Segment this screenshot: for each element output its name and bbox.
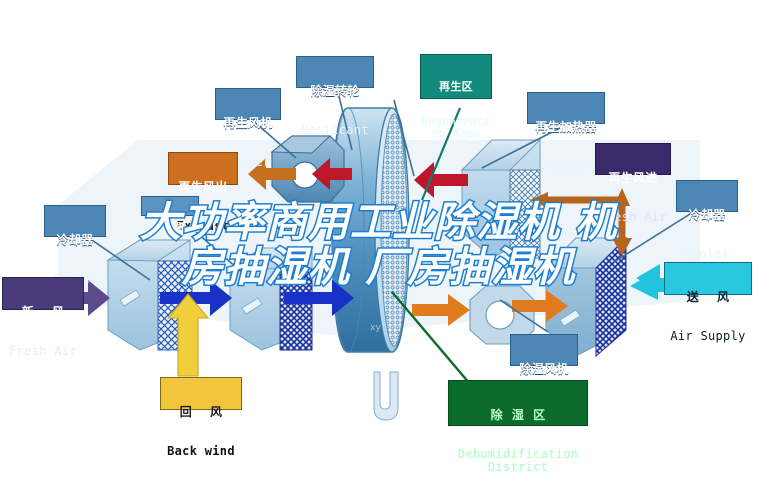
label-regen-exhaust-cn: 再生风出 bbox=[169, 181, 237, 194]
label-cooler-right-en: Cooler bbox=[677, 248, 737, 261]
label-regen-exhaust: 再生风出 Exhaust bbox=[168, 152, 238, 185]
label-dehumid-area-en: Dehumidification District bbox=[449, 448, 587, 474]
label-regen-heater-en: heater bbox=[528, 160, 604, 173]
label-regen-fresh-air: 再生风进 Fresh Air bbox=[595, 143, 671, 175]
label-cooler-left-1-cn: 冷却器 bbox=[45, 234, 105, 247]
label-regen-heater-cn: 再生加热器 bbox=[528, 121, 604, 134]
label-back-wind: 回 风 Back wind bbox=[160, 377, 242, 410]
label-fresh-air-in-en: Fresh Air bbox=[3, 345, 83, 358]
label-dehumid-blower: 除湿风机 Blower bbox=[510, 334, 578, 366]
label-regen-fresh-air-cn: 再生风进 bbox=[596, 172, 670, 185]
label-cooler-left-1: 冷却器 Cooler bbox=[44, 205, 106, 237]
label-air-supply-cn: 送 风 bbox=[665, 291, 751, 304]
label-regen-blower: 再生风机 Blower bbox=[215, 88, 281, 120]
label-desiccant-rotor: 除湿转轮 Desiccant bbox=[296, 56, 374, 88]
drain-pan bbox=[374, 372, 398, 420]
label-regen-blower-cn: 再生风机 bbox=[216, 117, 280, 130]
label-regen-area: 再生区 Regenerati on Area bbox=[420, 54, 492, 99]
label-back-wind-en: Back wind bbox=[161, 445, 241, 458]
label-cooler-left-2-cn: 冷却器 bbox=[142, 222, 198, 234]
svg-text:xy: xy bbox=[370, 323, 381, 333]
label-desiccant-rotor-en: Desiccant bbox=[297, 124, 373, 137]
label-regen-area-cn: 再生区 bbox=[421, 81, 491, 93]
label-back-wind-cn: 回 风 bbox=[161, 406, 241, 419]
label-regen-area-en: Regenerati on Area bbox=[421, 116, 491, 140]
label-dehumid-area-cn: 除 湿 区 bbox=[449, 409, 587, 422]
label-dehumid-area: 除 湿 区 Dehumidification District bbox=[448, 380, 588, 426]
label-fresh-air-in: 新 风 Fresh Air bbox=[2, 277, 84, 310]
label-cooler-left-2: 冷却器 bbox=[141, 196, 199, 216]
label-cooler-right-cn: 冷却器 bbox=[677, 209, 737, 222]
label-cooler-right: 冷却器 Cooler bbox=[676, 180, 738, 212]
label-dehumid-blower-cn: 除湿风机 bbox=[511, 363, 577, 376]
label-fresh-air-in-cn: 新 风 bbox=[3, 306, 83, 319]
diagram-canvas: xy bbox=[0, 0, 757, 488]
label-air-supply-en: Air Supply bbox=[665, 330, 751, 343]
label-air-supply: 送 风 Air Supply bbox=[664, 262, 752, 295]
label-desiccant-rotor-cn: 除湿转轮 bbox=[297, 85, 373, 98]
label-regen-fresh-air-en: Fresh Air bbox=[596, 211, 670, 224]
label-regen-heater: 再生加热器 heater bbox=[527, 92, 605, 124]
